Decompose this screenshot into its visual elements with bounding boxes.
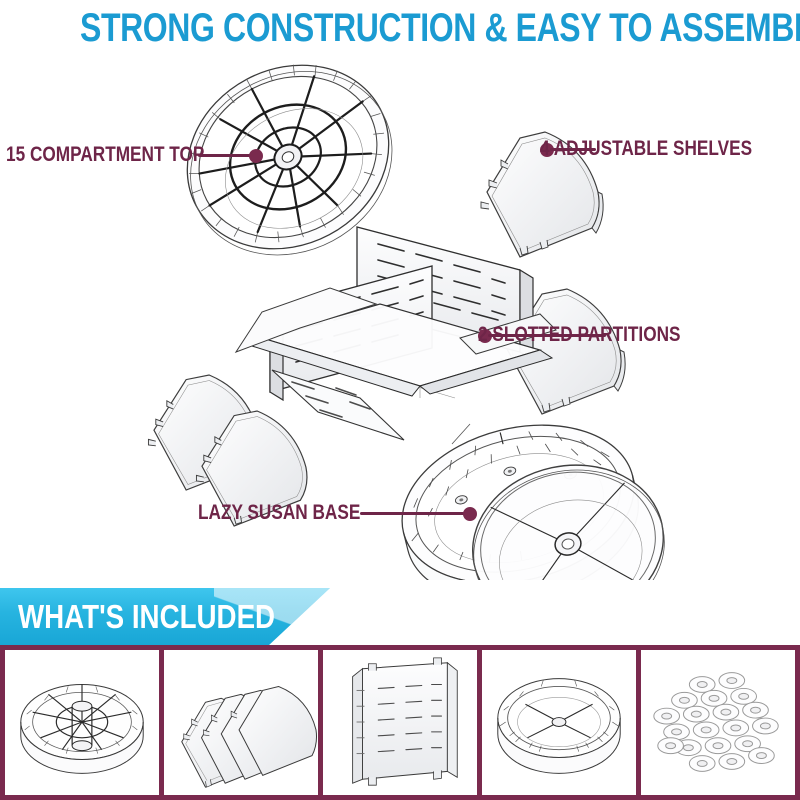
infographic-page: STRONG CONSTRUCTION & EASY TO ASSEMBLE — [0, 0, 800, 800]
included-thumb-rubber-rings[interactable] — [641, 650, 795, 795]
hero-illustration — [0, 52, 800, 580]
page-title: STRONG CONSTRUCTION & EASY TO ASSEMBLE — [80, 6, 720, 50]
included-thumb-compartment-top[interactable] — [5, 650, 159, 795]
thumb-icon-lazy-susan-base — [498, 679, 620, 774]
thumb-icon-slotted-partitions — [353, 658, 458, 785]
callout-label-compartment-top: 15 COMPARTMENT TOP — [6, 142, 204, 168]
thumb-icon-adjustable-shelves — [182, 686, 317, 787]
callout-label-slotted-partitions: 2 SLOTTED PARTITIONS — [478, 322, 681, 348]
callout-label-lazy-susan-base: LAZY SUSAN BASE — [198, 500, 360, 526]
included-thumb-slotted-partitions[interactable] — [323, 650, 477, 795]
included-thumb-lazy-susan-base[interactable] — [482, 650, 636, 795]
whats-included-banner: WHAT'S INCLUDED — [0, 588, 330, 646]
callout-dot — [463, 507, 477, 521]
included-thumb-adjustable-shelves[interactable] — [164, 650, 318, 795]
callout-leader-line — [360, 512, 468, 515]
thumb-icon-compartment-top — [21, 684, 143, 773]
whats-included-label: WHAT'S INCLUDED — [18, 595, 275, 639]
included-items-strip — [0, 645, 800, 800]
callout-dot — [249, 149, 263, 163]
thumb-icon-rubber-rings — [654, 673, 778, 772]
callout-label-adjustable-shelves: 4 ADJUSTABLE SHELVES — [540, 136, 752, 162]
callout-leader-line — [198, 154, 254, 157]
